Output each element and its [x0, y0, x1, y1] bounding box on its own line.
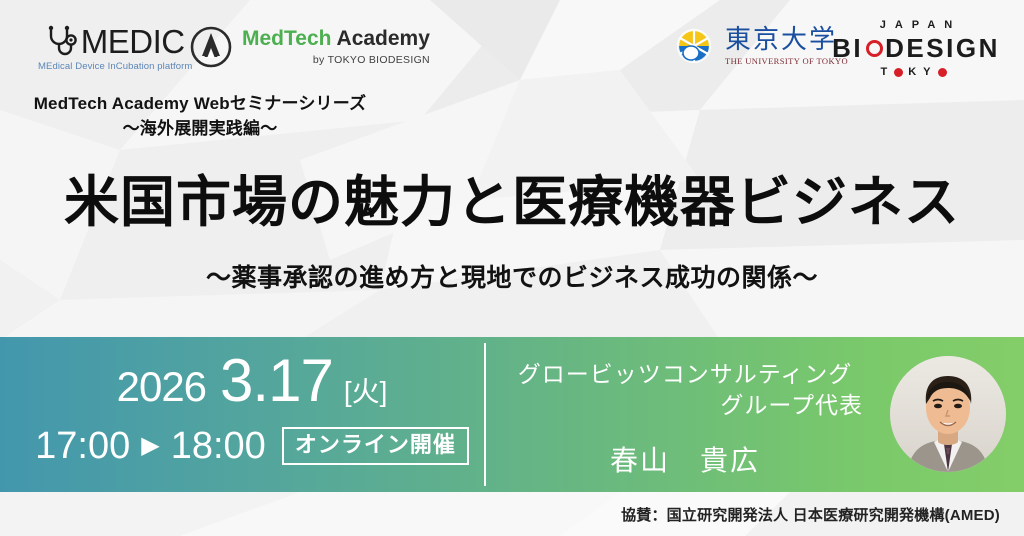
page-title: 米国市場の魅力と医療機器ビジネス — [0, 172, 1024, 233]
online-format-badge: オンライン開催 — [282, 427, 469, 465]
speaker-block: グロービッツコンサルティング グループ代表 春山 貴広 — [495, 359, 875, 479]
sponsor-text: 協賛：国立研究開発法人 日本医療研究開発機構(AMED) — [621, 504, 1000, 525]
series-heading: MedTech Academy Webセミナーシリーズ 〜海外展開実践編〜 — [0, 92, 400, 141]
speaker-org-line-2: グループ代表 — [495, 390, 875, 421]
ginkgo-leaf-icon — [672, 24, 716, 68]
jbd-biodesign-text: BI DESIGN — [828, 34, 1004, 63]
event-year: 2026 — [117, 366, 206, 408]
footer: 協賛：国立研究開発法人 日本医療研究開発機構(AMED) — [0, 492, 1024, 536]
red-ring-o-icon — [866, 40, 883, 57]
event-datetime-block: 2026 3.17 [火] 17:00 ▶ 18:00 オンライン開催 — [30, 351, 474, 465]
medtech-academy-byline: by TOKYO BIODESIGN — [242, 54, 430, 66]
event-time-start: 17:00 — [35, 427, 130, 465]
event-date: 2026 3.17 [火] — [30, 351, 474, 411]
event-time: 17:00 ▶ 18:00 オンライン開催 — [30, 427, 474, 465]
event-month-day: 3.17 — [220, 351, 333, 411]
speaker-headshot-photo — [890, 356, 1006, 472]
utokyo-logo: 東京大学 THE UNIVERSITY OF TOKYO — [672, 24, 848, 68]
jbd-bio-prefix: BI — [832, 34, 863, 63]
event-time-end: 18:00 — [171, 427, 266, 465]
logo-row: MEDIC MEdical Device InCubation platform… — [0, 0, 1024, 88]
jbd-japan-text: JAPAN — [837, 20, 1004, 31]
speaker-name: 春山 貴広 — [495, 439, 875, 479]
jbd-tokyo-prefix: T — [880, 67, 894, 78]
speaker-org-line-1: グロービッツコンサルティング — [518, 361, 853, 387]
medic-wordmark: MEDIC — [81, 25, 185, 58]
medtech-word: MedTech — [242, 27, 331, 50]
stethoscope-icon — [46, 24, 80, 58]
page-subtitle: 〜薬事承認の進め方と現地でのビジネス成功の関係〜 — [0, 258, 1024, 294]
red-dot-o-icon-1 — [894, 68, 903, 77]
red-dot-o-icon-2 — [938, 68, 947, 77]
medic-tagline: MEdical Device InCubation platform — [38, 61, 192, 72]
seminar-poster: MEDIC MEdical Device InCubation platform… — [0, 0, 1024, 536]
event-day-of-week: [火] — [344, 378, 388, 406]
academy-word: Academy — [337, 27, 430, 50]
medic-logo: MEDIC MEdical Device InCubation platform — [38, 24, 192, 72]
jbd-tokyo-mid: KY — [908, 67, 937, 78]
band-divider — [484, 343, 486, 486]
series-line-1: MedTech Academy Webセミナーシリーズ — [0, 92, 400, 117]
speaker-organization: グロービッツコンサルティング グループ代表 — [495, 359, 875, 421]
event-details-band: 2026 3.17 [火] 17:00 ▶ 18:00 オンライン開催 グロービ… — [0, 337, 1024, 492]
arrow-right-icon: ▶ — [141, 434, 159, 458]
medtech-academy-mark-icon — [190, 26, 232, 68]
japan-biodesign-logo: JAPAN BI DESIGN T KY — [828, 20, 1004, 78]
jbd-bio-suffix: DESIGN — [885, 34, 1000, 63]
medtech-academy-logo: MedTech Academy by TOKYO BIODESIGN — [190, 26, 430, 68]
series-line-2: 〜海外展開実践編〜 — [0, 117, 400, 142]
jbd-tokyo-text: T KY — [828, 67, 1004, 78]
